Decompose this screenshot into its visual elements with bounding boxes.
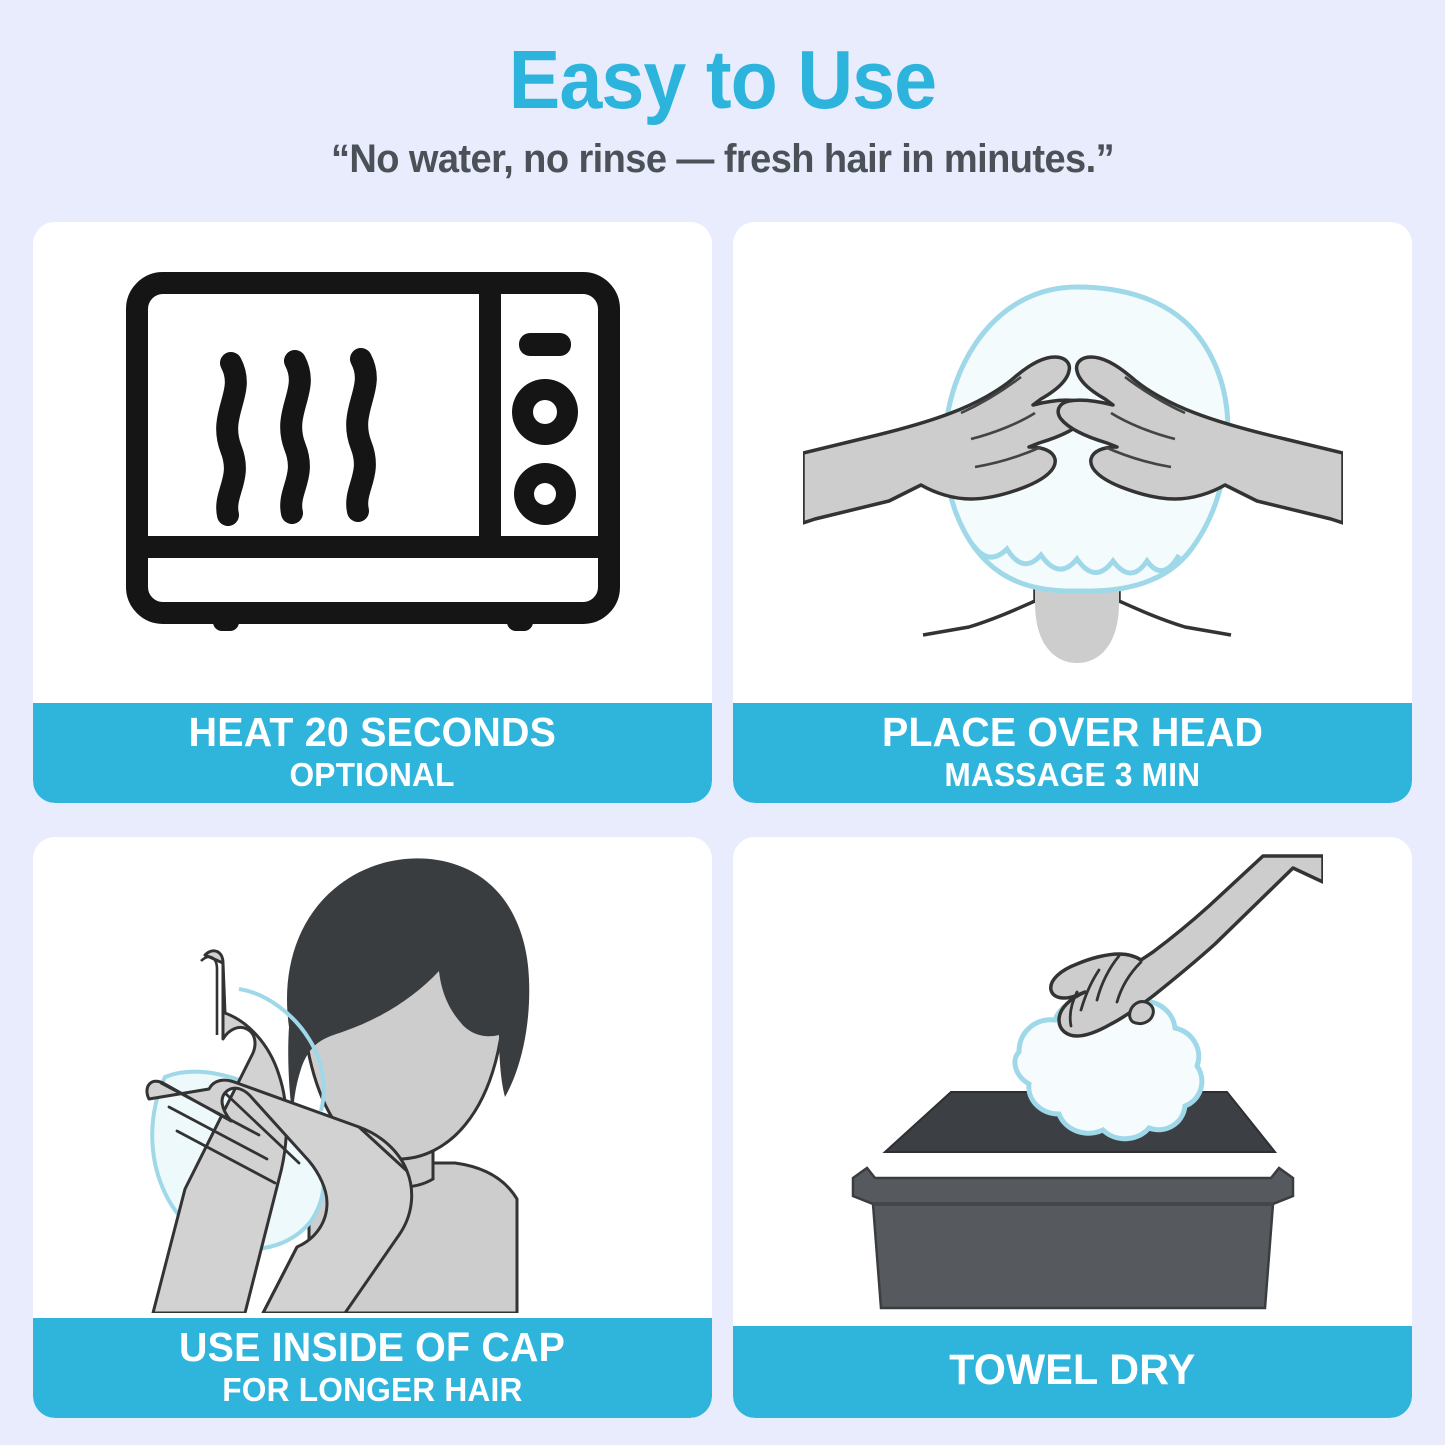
header: Easy to Use “No water, no rinse — fresh … bbox=[0, 34, 1445, 183]
steps-grid: HEAT 20 SECONDS OPTIONAL bbox=[33, 222, 1412, 1418]
page-subtitle: “No water, no rinse — fresh hair in minu… bbox=[36, 135, 1409, 183]
step-caption-main: TOWEL DRY bbox=[949, 1345, 1195, 1395]
step-caption-main: USE INSIDE OF CAP bbox=[179, 1324, 565, 1371]
step-caption-main: HEAT 20 SECONDS bbox=[189, 709, 556, 756]
step-illustration-place-over-head bbox=[733, 222, 1412, 703]
step-illustration-towel-dry bbox=[733, 837, 1412, 1326]
step-caption-use-inside-cap: USE INSIDE OF CAP FOR LONGER HAIR bbox=[33, 1318, 712, 1418]
microwave-icon bbox=[113, 253, 633, 673]
step-illustration-heat bbox=[33, 222, 712, 703]
infographic-page: Easy to Use “No water, no rinse — fresh … bbox=[0, 0, 1445, 1445]
step-card-place-over-head[interactable]: PLACE OVER HEAD MASSAGE 3 MIN bbox=[733, 222, 1412, 803]
hands-massaging-cap-on-head-icon bbox=[803, 253, 1343, 673]
woman-hands-with-cap-icon bbox=[113, 843, 633, 1313]
step-caption-sub: OPTIONAL bbox=[290, 756, 455, 794]
hand-dabbing-cap-on-towel-over-basin-icon bbox=[823, 852, 1323, 1312]
step-caption-sub: MASSAGE 3 MIN bbox=[945, 756, 1201, 794]
microwave-knob-upper-icon bbox=[512, 379, 578, 445]
step-caption-place-over-head: PLACE OVER HEAD MASSAGE 3 MIN bbox=[733, 703, 1412, 803]
page-title: Easy to Use bbox=[51, 34, 1395, 126]
step-caption-main: PLACE OVER HEAD bbox=[882, 709, 1263, 756]
step-caption-towel-dry: TOWEL DRY bbox=[733, 1326, 1412, 1418]
microwave-display-icon bbox=[519, 333, 571, 356]
step-illustration-use-inside-cap bbox=[33, 837, 712, 1318]
step-card-use-inside-cap[interactable]: USE INSIDE OF CAP FOR LONGER HAIR bbox=[33, 837, 712, 1418]
step-card-heat[interactable]: HEAT 20 SECONDS OPTIONAL bbox=[33, 222, 712, 803]
step-caption-heat: HEAT 20 SECONDS OPTIONAL bbox=[33, 703, 712, 803]
microwave-knob-lower-icon bbox=[514, 463, 576, 525]
step-card-towel-dry[interactable]: TOWEL DRY bbox=[733, 837, 1412, 1418]
step-caption-sub: FOR LONGER HAIR bbox=[222, 1371, 522, 1409]
